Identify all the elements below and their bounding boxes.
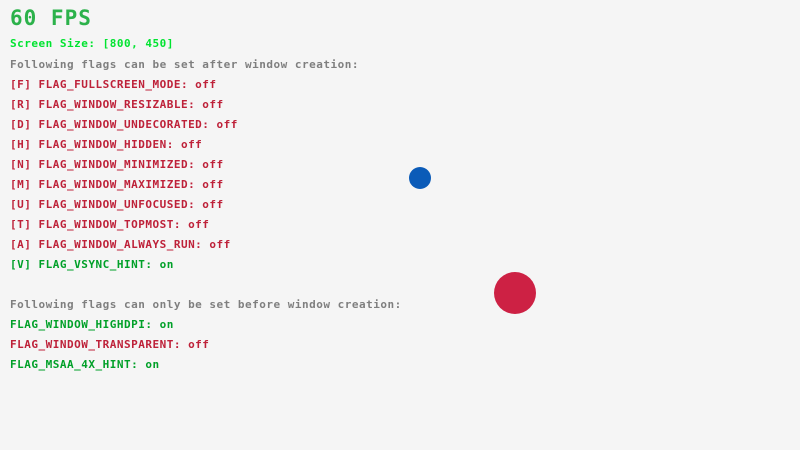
blue-ball-shape: [409, 167, 431, 189]
flag-row-flag-fullscreen-mode[interactable]: [F] FLAG_FULLSCREEN_MODE: off: [10, 78, 217, 91]
flag-row-flag-window-transparent[interactable]: FLAG_WINDOW_TRANSPARENT: off: [10, 338, 209, 351]
screen-size-label: Screen Size: [800, 450]: [10, 37, 174, 50]
flag-row-flag-window-undecorated[interactable]: [D] FLAG_WINDOW_UNDECORATED: off: [10, 118, 238, 131]
fps-counter: 60 FPS: [10, 6, 92, 30]
flag-row-flag-window-highdpi[interactable]: FLAG_WINDOW_HIGHDPI: on: [10, 318, 174, 331]
before-creation-note: Following flags can only be set before w…: [10, 298, 402, 311]
flag-row-flag-window-always-run[interactable]: [A] FLAG_WINDOW_ALWAYS_RUN: off: [10, 238, 231, 251]
flag-row-flag-msaa-4x-hint[interactable]: FLAG_MSAA_4X_HINT: on: [10, 358, 160, 371]
flag-row-flag-window-maximized[interactable]: [M] FLAG_WINDOW_MAXIMIZED: off: [10, 178, 224, 191]
raylib-window-canvas[interactable]: 60 FPS Screen Size: [800, 450] Following…: [0, 0, 800, 450]
flag-row-flag-window-resizable[interactable]: [R] FLAG_WINDOW_RESIZABLE: off: [10, 98, 224, 111]
flag-row-flag-window-unfocused[interactable]: [U] FLAG_WINDOW_UNFOCUSED: off: [10, 198, 224, 211]
flag-row-flag-window-minimized[interactable]: [N] FLAG_WINDOW_MINIMIZED: off: [10, 158, 224, 171]
after-creation-note: Following flags can be set after window …: [10, 58, 359, 71]
flag-row-flag-window-topmost[interactable]: [T] FLAG_WINDOW_TOPMOST: off: [10, 218, 209, 231]
red-ball-shape: [494, 272, 536, 314]
flag-row-flag-vsync-hint[interactable]: [V] FLAG_VSYNC_HINT: on: [10, 258, 174, 271]
flag-row-flag-window-hidden[interactable]: [H] FLAG_WINDOW_HIDDEN: off: [10, 138, 202, 151]
